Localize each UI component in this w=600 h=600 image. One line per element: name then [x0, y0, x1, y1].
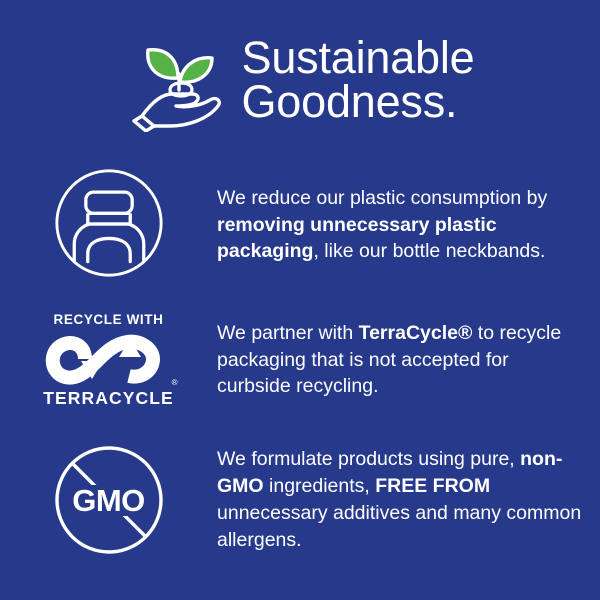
feature-icon-slot: RECYCLE WITH ® TERRACYCLE — [0, 313, 217, 408]
terracycle-infinity-arrows-icon: ® — [41, 331, 177, 387]
feature-text-non-gmo: We formulate products using pure, non-GM… — [217, 446, 600, 554]
feature-text-terracycle: We partner with TerraCycle® to recycle p… — [217, 320, 600, 401]
emphasis-text: TerraCycle® — [359, 322, 473, 344]
terracycle-bottom-label: TERRACYCLE — [43, 390, 174, 408]
header: Sustainable Goodness. — [0, 22, 600, 142]
page-title: Sustainable Goodness. — [242, 36, 475, 127]
hand-holding-sprout-icon — [126, 32, 234, 132]
bottle-neckband-circle-icon — [53, 167, 165, 284]
feature-row-terracycle: RECYCLE WITH ® TERRACYCLE We partner wit… — [0, 300, 600, 420]
no-gmo-icon: GMO — [53, 444, 165, 556]
feature-icon-slot — [0, 167, 217, 284]
feature-text-plastic-reduction: We reduce our plastic consumption by rem… — [217, 185, 600, 266]
emphasis-text: FREE FROM — [375, 475, 490, 497]
feature-row-plastic-reduction: We reduce our plastic consumption by rem… — [0, 165, 600, 285]
registered-trademark-icon: ® — [172, 379, 178, 387]
gmo-label: GMO — [53, 444, 165, 556]
terracycle-logo-icon: RECYCLE WITH ® TERRACYCLE — [39, 313, 179, 408]
feature-row-non-gmo: GMO We formulate products using pure, no… — [0, 435, 600, 565]
feature-icon-slot: GMO — [0, 444, 217, 556]
terracycle-top-label: RECYCLE WITH — [54, 313, 164, 327]
